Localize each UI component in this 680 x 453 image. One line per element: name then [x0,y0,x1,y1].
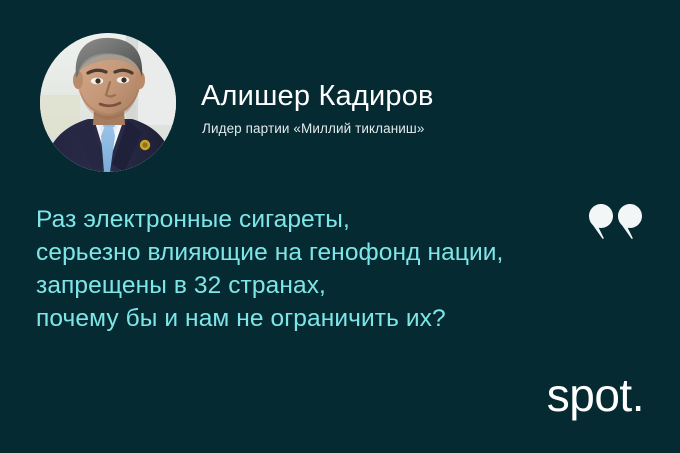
quote-card: Алишер Кадиров Лидер партии «Миллий тикл… [0,0,680,453]
person-role: Лидер партии «Миллий тикланиш» [202,120,424,138]
quote-text: Раз электронные сигареты, серьезно влияю… [36,203,576,335]
quote-line: серьезно влияющие на генофонд нации, [36,236,576,269]
person-name: Алишер Кадиров [201,79,434,113]
quote-line: почему бы и нам не ограничить их? [36,302,576,335]
card-header: Алишер Кадиров Лидер партии «Миллий тикл… [0,0,680,180]
quote-line: запрещены в 32 странах, [36,269,576,302]
spot-logo: spot. [547,372,644,418]
quotation-mark-icon [589,204,643,240]
portrait-photo-icon [40,33,176,172]
avatar [40,33,176,172]
quote-line: Раз электронные сигареты, [36,203,576,236]
